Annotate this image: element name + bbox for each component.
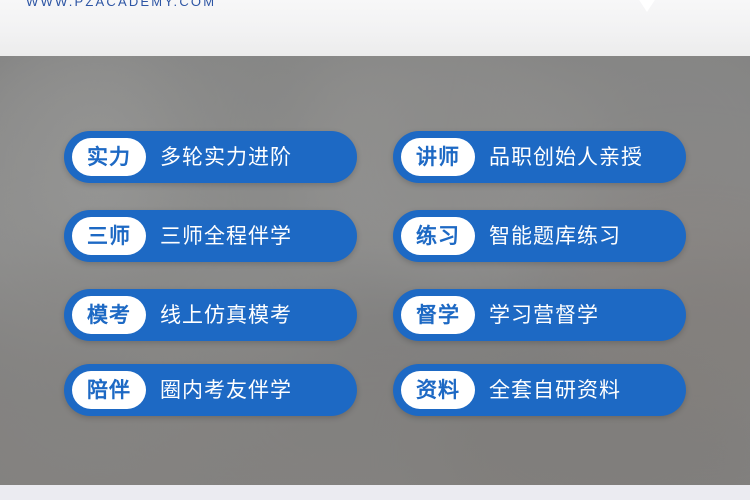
feature-pill-grid: 实力 多轮实力进阶 三师 三师全程伴学 模考 线上仿真模考 陪伴 圈内考友伴学 …	[0, 56, 750, 485]
feature-badge: 资料	[401, 371, 475, 409]
feature-pill-mokao[interactable]: 模考 线上仿真模考	[64, 289, 357, 341]
promo-banner-page: WWW.PZACADEMY.COM 实力 多轮实力进阶 三师 三师全程伴学 模考…	[0, 0, 750, 500]
feature-pill-sanshi[interactable]: 三师 三师全程伴学	[64, 210, 357, 262]
feature-badge: 陪伴	[72, 371, 146, 409]
feature-label: 多轮实力进阶	[160, 147, 292, 168]
triangle-down-icon	[630, 0, 664, 12]
feature-pill-duxue[interactable]: 督学 学习营督学	[393, 289, 686, 341]
footer-band	[0, 485, 750, 500]
feature-badge: 练习	[401, 217, 475, 255]
feature-badge: 讲师	[401, 138, 475, 176]
feature-label: 线上仿真模考	[160, 305, 292, 326]
header-band: WWW.PZACADEMY.COM	[0, 0, 750, 56]
feature-badge: 实力	[72, 138, 146, 176]
feature-badge: 三师	[72, 217, 146, 255]
feature-pill-ziliao[interactable]: 资料 全套自研资料	[393, 364, 686, 416]
feature-badge: 督学	[401, 296, 475, 334]
site-url-text: WWW.PZACADEMY.COM	[26, 0, 216, 9]
feature-label: 全套自研资料	[489, 380, 621, 401]
feature-label: 学习营督学	[489, 305, 599, 326]
feature-pill-shili[interactable]: 实力 多轮实力进阶	[64, 131, 357, 183]
feature-badge: 模考	[72, 296, 146, 334]
feature-label: 三师全程伴学	[160, 226, 292, 247]
feature-label: 智能题库练习	[489, 226, 621, 247]
feature-pill-lianxi[interactable]: 练习 智能题库练习	[393, 210, 686, 262]
feature-pill-peiban[interactable]: 陪伴 圈内考友伴学	[64, 364, 357, 416]
feature-label: 圈内考友伴学	[160, 380, 292, 401]
feature-label: 品职创始人亲授	[489, 147, 643, 168]
feature-pill-jiangshi[interactable]: 讲师 品职创始人亲授	[393, 131, 686, 183]
